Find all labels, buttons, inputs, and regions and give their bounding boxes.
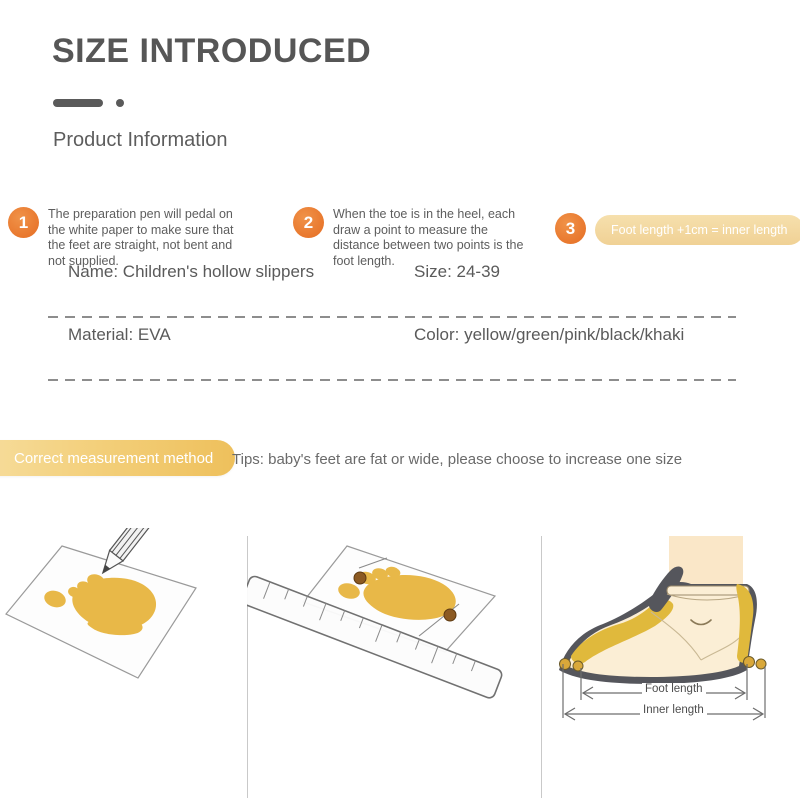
step-3: 3 Foot length +1cm = inner length bbox=[555, 213, 795, 245]
accent-bar-icon bbox=[53, 99, 103, 107]
step-number-badge: 1 bbox=[8, 207, 39, 238]
measurement-tips-text: Tips: baby's feet are fat or wide, pleas… bbox=[232, 451, 682, 468]
product-info-table: Name: Children's hollow slippers Size: 2… bbox=[48, 255, 736, 381]
foot-length-label: Foot length bbox=[642, 683, 706, 695]
step-description: When the toe is in the heel, each draw a… bbox=[333, 207, 525, 269]
correct-measurement-badge: Correct measurement method bbox=[0, 440, 235, 476]
step-number-badge: 2 bbox=[293, 207, 324, 238]
step-number-badge: 3 bbox=[555, 213, 586, 244]
inner-length-label: Inner length bbox=[640, 704, 707, 716]
table-row: Material: EVA Color: yellow/green/pink/b… bbox=[48, 318, 736, 381]
ruler-foot-icon bbox=[247, 528, 537, 718]
length-formula-pill: Foot length +1cm = inner length bbox=[595, 215, 800, 245]
page-title: SIZE INTRODUCED bbox=[52, 32, 371, 71]
title-accent bbox=[53, 99, 124, 107]
info-color-value: Color: yellow/green/pink/black/khaki bbox=[414, 325, 684, 345]
pencil-foot-outline-icon bbox=[0, 528, 240, 718]
shoe-measurement-icon bbox=[541, 528, 791, 728]
step-description: The preparation pen will pedal on the wh… bbox=[48, 207, 236, 269]
step-2: 2 When the toe is in the heel, each draw… bbox=[293, 207, 525, 269]
info-material-value: Material: EVA bbox=[68, 325, 171, 345]
row-divider bbox=[48, 379, 736, 381]
step-1: 1 The preparation pen will pedal on the … bbox=[8, 207, 236, 269]
page-subtitle: Product Information bbox=[53, 129, 228, 152]
illustration-panels: Foot length Inner length bbox=[0, 520, 800, 800]
accent-dot-icon bbox=[116, 99, 124, 107]
